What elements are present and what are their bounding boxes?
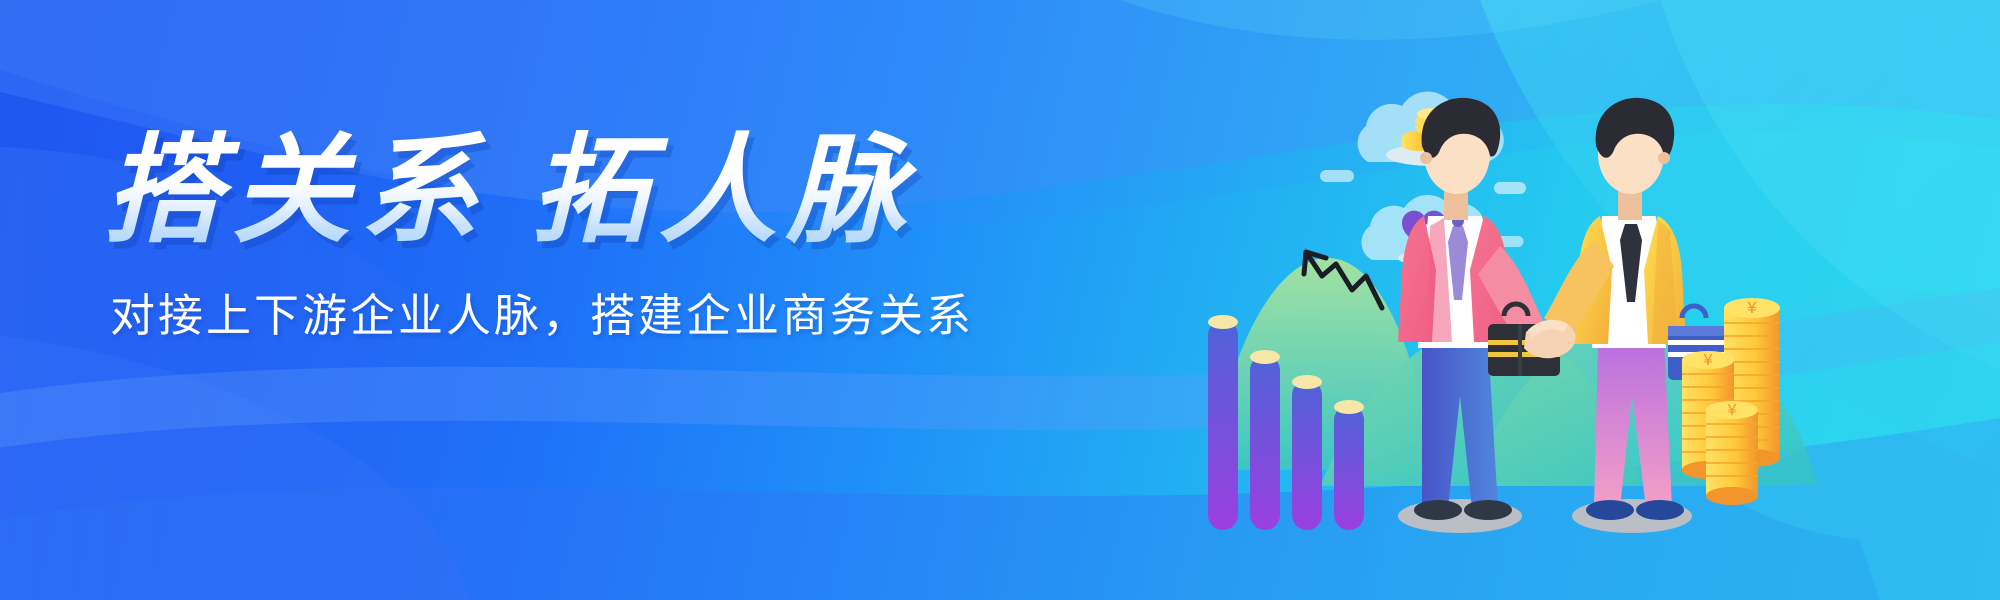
svg-text:¥: ¥	[1746, 298, 1757, 317]
banner-text-block: 搭关系 拓人脉 对接上下游企业人脉，搭建企业商务关系	[104, 128, 1004, 343]
cloud-wisp-a	[1320, 170, 1354, 182]
right-ear	[1658, 152, 1670, 164]
bar-2	[1250, 350, 1280, 530]
right-shoe-a	[1586, 500, 1634, 520]
svg-text:¥: ¥	[1727, 402, 1737, 419]
bar-4	[1334, 400, 1364, 530]
banner-headline: 搭关系 拓人脉	[104, 128, 1004, 255]
handshake-illustration: ¥ ¥	[1170, 40, 1870, 570]
left-shoe-b	[1464, 500, 1512, 520]
left-neck	[1444, 190, 1468, 220]
right-neck	[1618, 190, 1642, 220]
banner-subtitle: 对接上下游企业人脉，搭建企业商务关系	[110, 289, 1004, 343]
svg-text:¥: ¥	[1703, 352, 1713, 369]
left-shoe-a	[1414, 500, 1462, 520]
bar-3	[1292, 375, 1322, 530]
cloud-wisp-b	[1494, 182, 1526, 194]
right-shoe-b	[1636, 500, 1684, 520]
left-ear	[1420, 152, 1432, 164]
bar-1	[1208, 315, 1238, 530]
promo-banner: 搭关系 拓人脉 对接上下游企业人脉，搭建企业商务关系	[0, 0, 2000, 600]
coin-stack-front: ¥	[1706, 401, 1758, 505]
